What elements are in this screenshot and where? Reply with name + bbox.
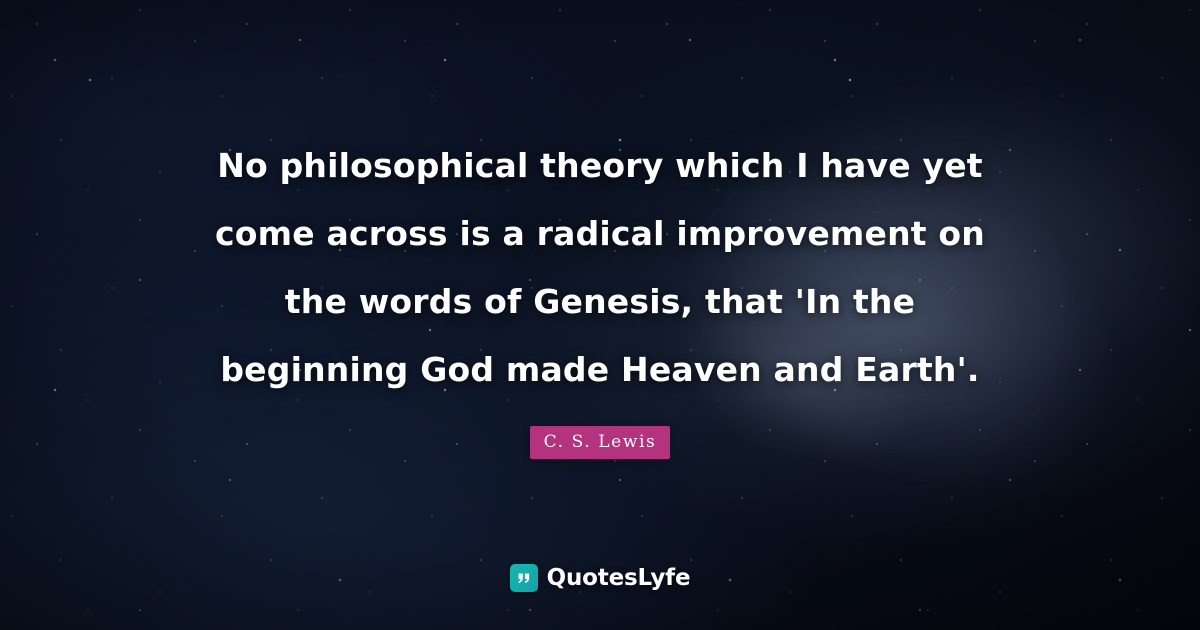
quote-card: No philosophical theory which I have yet… (0, 0, 1200, 630)
brand-name: QuotesLyfe (547, 565, 691, 591)
quote-text: No philosophical theory which I have yet… (190, 132, 1010, 404)
author-badge: C. S. Lewis (530, 426, 671, 459)
brand-watermark: QuotesLyfe (0, 564, 1200, 592)
quote-mark-icon (510, 564, 538, 592)
author-badge-wrapper: C. S. Lewis (530, 426, 671, 459)
card-content: No philosophical theory which I have yet… (0, 0, 1200, 630)
